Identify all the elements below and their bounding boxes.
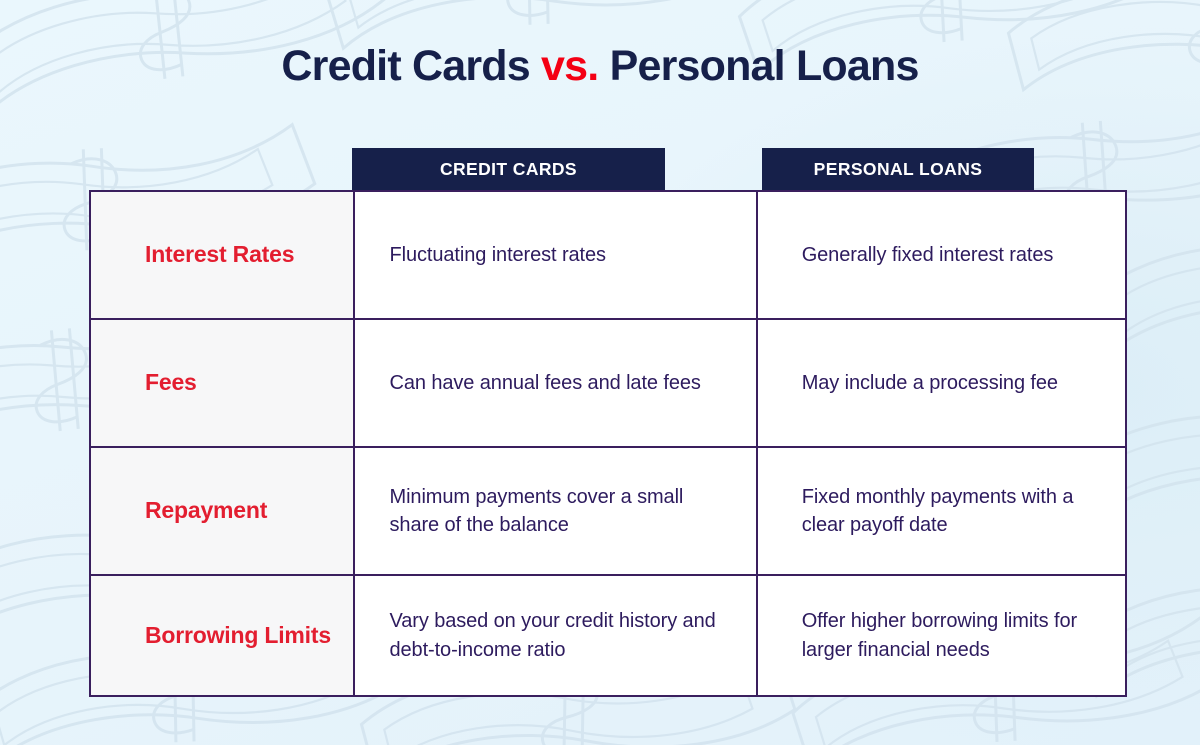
cell-personal-loans-text: Fixed monthly payments with a clear payo… bbox=[802, 483, 1107, 540]
feature-text: Fees bbox=[145, 369, 197, 396]
cell-credit-cards-text: Minimum payments cover a small share of … bbox=[390, 483, 738, 540]
table-row: Fees Can have annual fees and late fees … bbox=[91, 320, 1125, 448]
cell-personal-loans-text: Offer higher borrowing limits for larger… bbox=[802, 607, 1107, 664]
column-header-personal-loans: PERSONAL LOANS bbox=[762, 148, 1034, 191]
page-title: Credit Cards vs. Personal Loans bbox=[0, 42, 1200, 91]
page-title-vs: vs. bbox=[541, 42, 598, 90]
cell-credit-cards: Fluctuating interest rates bbox=[355, 192, 758, 318]
comparison-table: Interest Rates Fluctuating interest rate… bbox=[89, 190, 1127, 697]
page-title-part2: Personal Loans bbox=[598, 42, 918, 90]
table-row: Borrowing Limits Vary based on your cred… bbox=[91, 576, 1125, 695]
cell-personal-loans: May include a processing fee bbox=[758, 320, 1125, 446]
cell-credit-cards-text: Fluctuating interest rates bbox=[390, 241, 606, 269]
feature-text: Repayment bbox=[145, 497, 267, 524]
feature-text: Interest Rates bbox=[145, 241, 294, 268]
cell-personal-loans-text: Generally fixed interest rates bbox=[802, 241, 1054, 269]
cell-credit-cards: Vary based on your credit history and de… bbox=[355, 576, 758, 695]
column-header-credit-cards: CREDIT CARDS bbox=[352, 148, 665, 191]
column-header-personal-loans-label: PERSONAL LOANS bbox=[814, 159, 983, 180]
cell-personal-loans: Offer higher borrowing limits for larger… bbox=[758, 576, 1125, 695]
cell-personal-loans: Fixed monthly payments with a clear payo… bbox=[758, 448, 1125, 574]
table-row: Interest Rates Fluctuating interest rate… bbox=[91, 192, 1125, 320]
table-row: Repayment Minimum payments cover a small… bbox=[91, 448, 1125, 576]
cell-personal-loans-text: May include a processing fee bbox=[802, 369, 1058, 397]
cell-credit-cards-text: Can have annual fees and late fees bbox=[390, 369, 701, 397]
page-title-part1: Credit Cards bbox=[281, 42, 541, 90]
cell-credit-cards: Minimum payments cover a small share of … bbox=[355, 448, 758, 574]
row-feature-label: Repayment bbox=[91, 448, 355, 574]
feature-text: Borrowing Limits bbox=[145, 622, 331, 649]
cell-personal-loans: Generally fixed interest rates bbox=[758, 192, 1125, 318]
column-header-credit-cards-label: CREDIT CARDS bbox=[440, 159, 577, 180]
cell-credit-cards-text: Vary based on your credit history and de… bbox=[390, 607, 738, 664]
row-feature-label: Fees bbox=[91, 320, 355, 446]
infographic-canvas: Credit Cards vs. Personal Loans CREDIT C… bbox=[0, 0, 1200, 745]
row-feature-label: Borrowing Limits bbox=[91, 576, 355, 695]
row-feature-label: Interest Rates bbox=[91, 192, 355, 318]
cell-credit-cards: Can have annual fees and late fees bbox=[355, 320, 758, 446]
